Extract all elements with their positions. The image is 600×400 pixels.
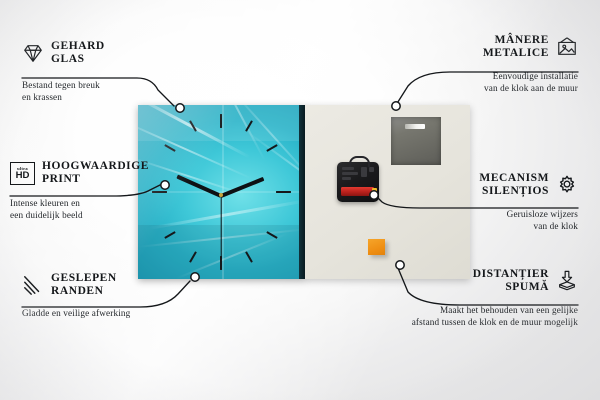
feature-manere-metalice[interactable]: MÂNERE METALICE Eenvoudige installatie v… <box>398 34 578 94</box>
infographic-canvas: GEHARD GLAS Bestand tegen breuk en krass… <box>0 0 600 400</box>
gear-icon <box>556 174 578 196</box>
feature-distantier-spuma[interactable]: DISTANȚIER SPUMĂ Maakt het behouden van … <box>338 268 578 328</box>
diamond-icon <box>22 42 44 64</box>
aa-battery <box>341 187 374 196</box>
ultra-hd-icon: ultra HD <box>10 162 35 185</box>
hour-hand <box>220 177 264 198</box>
feature-title: DISTANȚIER SPUMĂ <box>473 268 549 294</box>
feature-header: MECANISM SILENȚIOS <box>398 172 578 198</box>
feature-geslepen-randen[interactable]: GESLEPEN RANDEN Gladde en veilige afwerk… <box>22 272 202 320</box>
hanger-slot <box>405 124 425 129</box>
feature-hoogwaardige-print[interactable]: ultra HD HOOGWAARDIGE PRINT Intense kleu… <box>10 160 190 221</box>
feature-subtitle: Geruisloze wijzers van de klok <box>398 209 578 232</box>
feature-subtitle: Maakt het behouden van een gelijke afsta… <box>338 305 578 328</box>
foam-spacer <box>368 239 385 255</box>
feature-title: GESLEPEN RANDEN <box>51 272 117 298</box>
clock-mechanism <box>337 162 379 202</box>
feature-header: DISTANȚIER SPUMĂ <box>338 268 578 294</box>
battery-positive-terminal <box>372 188 377 195</box>
clock-center-cap <box>219 193 223 197</box>
feature-header: GESLEPEN RANDEN <box>22 272 202 298</box>
feature-mecanism-silentios[interactable]: MECANISM SILENȚIOS Geruisloze wijzers va… <box>398 172 578 232</box>
feature-subtitle: Gladde en veilige afwerking <box>22 308 202 319</box>
diagonal-lines-icon <box>22 274 44 296</box>
picture-frame-hanger-icon <box>556 36 578 58</box>
feature-title: MECANISM SILENȚIOS <box>479 172 549 198</box>
feature-subtitle: Bestand tegen breuk en krassen <box>22 80 182 103</box>
feature-header: MÂNERE METALICE <box>398 34 578 60</box>
feature-header: ultra HD HOOGWAARDIGE PRINT <box>10 160 190 186</box>
ultra-hd-icon-main-label: HD <box>16 171 30 181</box>
feature-header: GEHARD GLAS <box>22 40 182 66</box>
second-hand <box>220 195 221 257</box>
arrow-down-layers-icon <box>556 270 578 292</box>
feature-title: GEHARD GLAS <box>51 40 105 66</box>
metal-hanger-plate <box>391 117 441 165</box>
feature-title: HOOGWAARDIGE PRINT <box>42 160 149 186</box>
feature-title: MÂNERE METALICE <box>483 34 549 60</box>
feature-gehard-glas[interactable]: GEHARD GLAS Bestand tegen breuk en krass… <box>22 40 182 103</box>
feature-subtitle: Intense kleuren en een duidelijk beeld <box>10 198 190 221</box>
feature-subtitle: Eenvoudige installatie van de klok aan d… <box>398 71 578 94</box>
mechanism-hanging-loop <box>349 156 370 167</box>
